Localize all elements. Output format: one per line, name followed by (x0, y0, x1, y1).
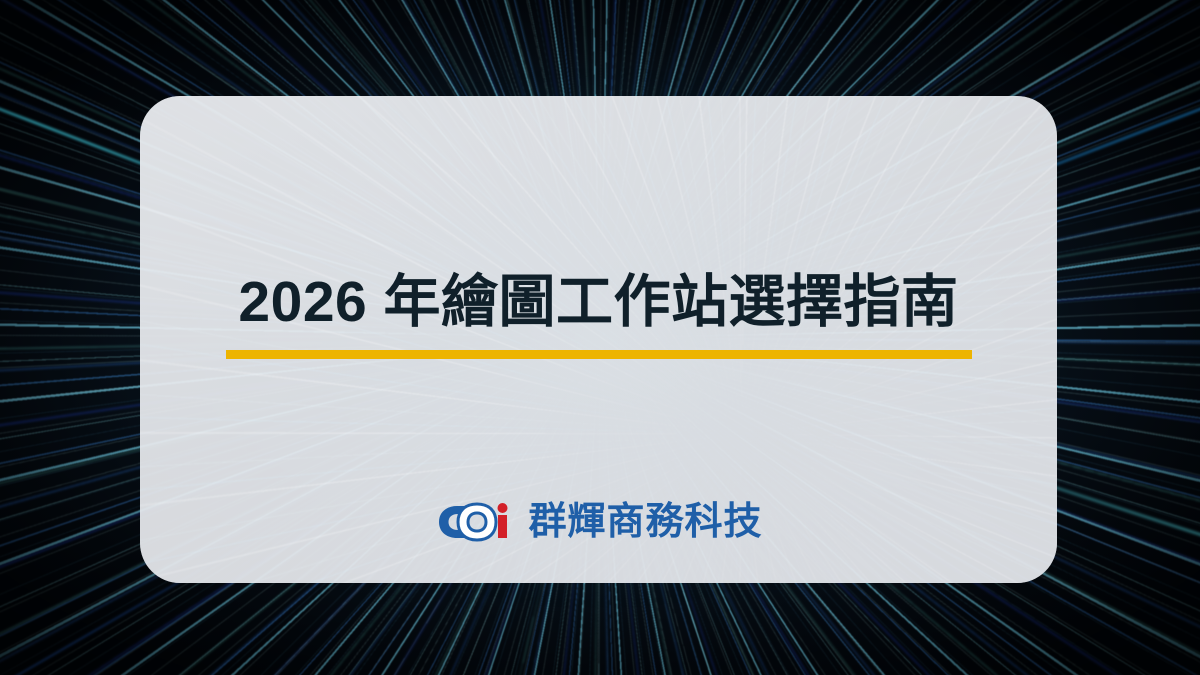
brand-wordmark: 群輝商務科技 (528, 503, 762, 541)
presentation-slide: 2026 年繪圖工作站選擇指南 群輝商務科技 (0, 0, 1200, 675)
title-underline-rule (226, 350, 972, 359)
title-card-panel: 2026 年繪圖工作站選擇指南 群輝商務科技 (140, 96, 1057, 583)
brand-logo: 群輝商務科技 (140, 500, 1057, 544)
card-content: 2026 年繪圖工作站選擇指南 群輝商務科技 (140, 96, 1057, 583)
page-title: 2026 年繪圖工作站選擇指南 (140, 272, 1057, 332)
coi-logo-icon (434, 500, 512, 544)
